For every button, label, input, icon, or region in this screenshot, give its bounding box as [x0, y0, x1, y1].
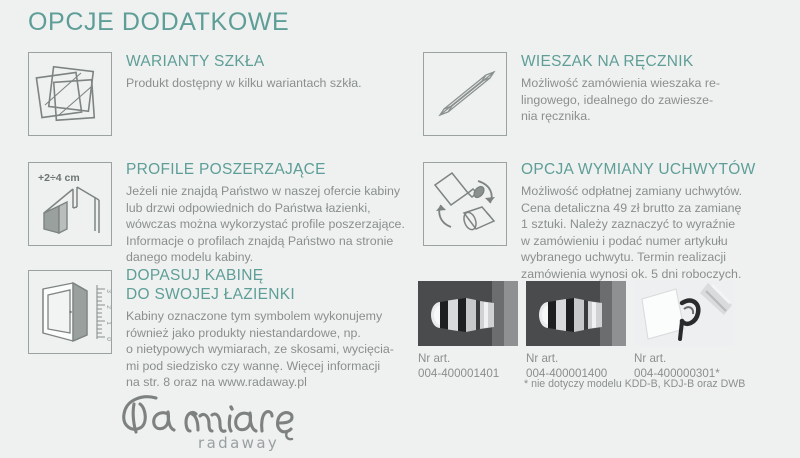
text-line: 1 sztuki. Należy zaznaczyć to wyraźnie	[521, 216, 796, 233]
chrome-knob-handle-dark-photo	[418, 281, 518, 346]
product-article-label-2: Nr art. 004-400001400	[526, 352, 629, 381]
ruler-tick-0: 0	[105, 337, 111, 341]
glass-panes-icon	[28, 52, 112, 136]
footnote: * nie dotyczy modelu KDD-B, KDJ-B oraz D…	[524, 378, 745, 390]
page-title: OPCJE DODATKOWE	[28, 8, 289, 37]
text-line: 004-400001401	[418, 367, 521, 382]
product-item-3: Nr art. 004-400000301*	[634, 281, 737, 381]
text-line: Możliwość zamówienia wieszaka re-	[521, 75, 791, 92]
product-article-label-3: Nr art. 004-400000301*	[634, 352, 737, 381]
cabin-ruler-icon: 3 2 1 0	[28, 270, 112, 354]
profile-width-label: +2÷4 cm	[38, 172, 80, 184]
block-text-wieszak: WIESZAK NA RĘCZNIK Możliwość zamówienia …	[521, 52, 791, 125]
text-line: Cena detaliczna 49 zł brutto za zamianę	[521, 200, 796, 217]
text-line: Nr art.	[418, 352, 521, 367]
text-line: nia ręcznika.	[521, 108, 791, 125]
na-miare-logo: radaway	[112, 388, 352, 454]
text-line: lingowego, idealnego do zawiesze-	[521, 92, 791, 109]
text-line: Nr art.	[634, 352, 737, 367]
widening-profile-icon: +2÷4 cm	[28, 162, 112, 246]
text-line: danego modelu kabiny.	[126, 249, 486, 266]
text-line: Nr art.	[526, 352, 629, 367]
text-line: Możliwość odpłatnej zamiany uchwytów.	[521, 183, 796, 200]
block-text-warianty-szkla: WARIANTY SZKŁA Produkt dostępny w kilku …	[126, 52, 456, 92]
ruler-tick-2: 2	[105, 305, 111, 309]
heading-wieszak-na-recznik: WIESZAK NA RĘCZNIK	[521, 52, 791, 71]
body-warianty-szkla: Produkt dostępny w kilku wariantach szkł…	[126, 75, 456, 92]
additional-options-page: OPCJE DODATKOWE WARIANTY SZKŁA Produkt d…	[0, 0, 800, 458]
brand-name: radaway	[198, 434, 279, 452]
text-line: w zamówieniu i podać numer artykułu	[521, 233, 796, 250]
block-text-uchwyty: OPCJA WYMIANY UCHWYTÓW Możliwość odpłatn…	[521, 160, 796, 283]
text-line: wybranego uchwytu. Termin realizacji	[521, 249, 796, 266]
product-item-2: Nr art. 004-400001400	[526, 281, 629, 381]
product-article-label-1: Nr art. 004-400001401	[418, 352, 521, 381]
heading-opcja-wymiany-uchwytow: OPCJA WYMIANY UCHWYTÓW	[521, 160, 796, 179]
text-line: Produkt dostępny w kilku wariantach szkł…	[126, 75, 456, 92]
handle-swap-icon	[423, 162, 507, 246]
hook-handle-light-photo	[634, 281, 734, 346]
ruler-tick-1: 1	[105, 321, 111, 325]
ruler-tick-3: 3	[105, 289, 111, 293]
product-item-1: Nr art. 004-400001401	[418, 281, 521, 381]
towel-rail-icon	[423, 52, 507, 136]
chrome-knob-handle-dark-photo	[526, 281, 626, 346]
body-opcja-wymiany-uchwytow: Możliwość odpłatnej zamiany uchwytów. Ce…	[521, 183, 796, 283]
heading-warianty-szkla: WARIANTY SZKŁA	[126, 52, 456, 71]
body-wieszak-na-recznik: Możliwość zamówienia wieszaka re- lingow…	[521, 75, 791, 125]
